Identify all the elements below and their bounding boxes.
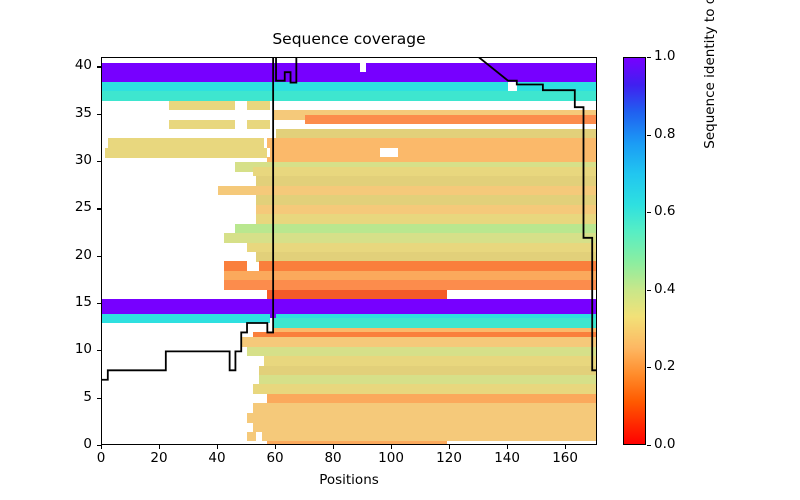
colorbar-tick-label: 0.0 [654,436,675,452]
x-tick-label: 160 [540,450,590,466]
x-tick [449,445,450,449]
x-tick-label: 20 [134,450,184,466]
colorbar-tick [647,367,651,368]
colorbar-gradient [623,57,646,445]
colorbar-tick [647,135,651,136]
plot-area [101,57,597,445]
colorbar-tick-label: 0.4 [654,281,675,297]
y-tick-label: 30 [32,152,92,168]
colorbar-tick [647,212,651,213]
x-tick [507,445,508,449]
x-tick-label: 80 [308,450,358,466]
colorbar-tick [647,290,651,291]
y-tick [97,114,101,115]
y-tick [97,208,101,209]
x-tick [101,445,102,449]
colorbar-tick-label: 1.0 [654,48,675,64]
x-tick [159,445,160,449]
x-axis-label: Positions [101,472,597,488]
coverage-line-layer [102,58,596,444]
x-tick-label: 100 [366,450,416,466]
y-tick [97,161,101,162]
colorbar-tick-label: 0.6 [654,203,675,219]
y-tick [97,256,101,257]
x-tick [333,445,334,449]
y-tick [97,398,101,399]
y-tick [97,303,101,304]
y-tick-label: 10 [32,341,92,357]
y-tick-label: 0 [32,436,92,452]
y-tick-label: 35 [32,105,92,121]
y-tick-label: 25 [32,199,92,215]
colorbar-tick [647,445,651,446]
x-tick-label: 60 [250,450,300,466]
x-tick [565,445,566,449]
figure-canvas: Sequence coverage 020406080100120140160 … [0,0,800,500]
x-tick [391,445,392,449]
colorbar-tick-label: 0.8 [654,126,675,142]
x-tick-label: 0 [76,450,126,466]
coverage-line [102,58,597,380]
colorbar-tick [647,57,651,58]
y-tick [97,66,101,67]
x-tick [275,445,276,449]
x-tick-label: 120 [424,450,474,466]
colorbar-label: Sequence identity to query [702,0,718,251]
colorbar-tick-label: 0.2 [654,358,675,374]
y-tick-label: 5 [32,389,92,405]
y-tick [97,350,101,351]
page-title: Sequence coverage [101,30,597,48]
y-tick-label: 40 [32,57,92,73]
x-tick [217,445,218,449]
y-tick-label: 15 [32,294,92,310]
x-tick-label: 40 [192,450,242,466]
x-tick-label: 140 [482,450,532,466]
y-tick-label: 20 [32,247,92,263]
y-tick [97,445,101,446]
